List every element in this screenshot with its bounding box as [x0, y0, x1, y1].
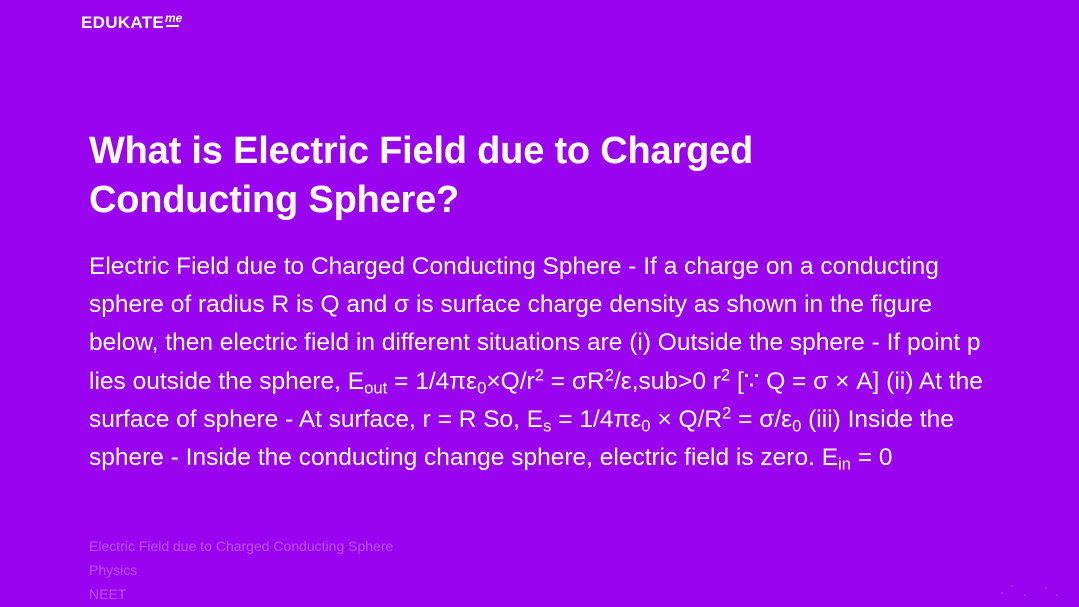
slide-body: Electric Field due to Charged Conducting… — [89, 248, 999, 477]
subscript: 0 — [641, 416, 650, 435]
brand-suffix: me — [165, 12, 182, 24]
slide-title: What is Electric Field due to Charged Co… — [89, 127, 959, 224]
subscript: in — [838, 454, 851, 473]
corner-dot — [1045, 587, 1047, 589]
subscript: 0 — [477, 378, 486, 397]
corner-dot — [1011, 585, 1013, 587]
superscript: 2 — [722, 404, 731, 423]
footer-line-subject: Physics — [89, 558, 393, 582]
slide-canvas: EDUKATE me What is Electric Field due to… — [0, 0, 1079, 607]
corner-dot — [1001, 592, 1003, 594]
corner-dots-decoration — [993, 581, 1071, 603]
subscript: 0 — [792, 416, 801, 435]
superscript: 2 — [535, 365, 544, 384]
brand-name: EDUKATE — [81, 14, 164, 31]
brand-underline-rule — [166, 25, 179, 27]
subscript: s — [543, 416, 551, 435]
corner-dot — [1056, 594, 1058, 596]
superscript: 2 — [605, 365, 614, 384]
corner-dot — [1024, 594, 1026, 596]
slide-footer: Electric Field due to Charged Conducting… — [89, 534, 393, 606]
subscript: out — [364, 378, 387, 397]
brand-suffix-wrap: me — [165, 12, 182, 27]
superscript: 2 — [721, 365, 730, 384]
brand-logo[interactable]: EDUKATE me — [81, 14, 182, 31]
footer-line-exam: NEET — [89, 582, 393, 606]
footer-line-topic: Electric Field due to Charged Conducting… — [89, 534, 393, 558]
